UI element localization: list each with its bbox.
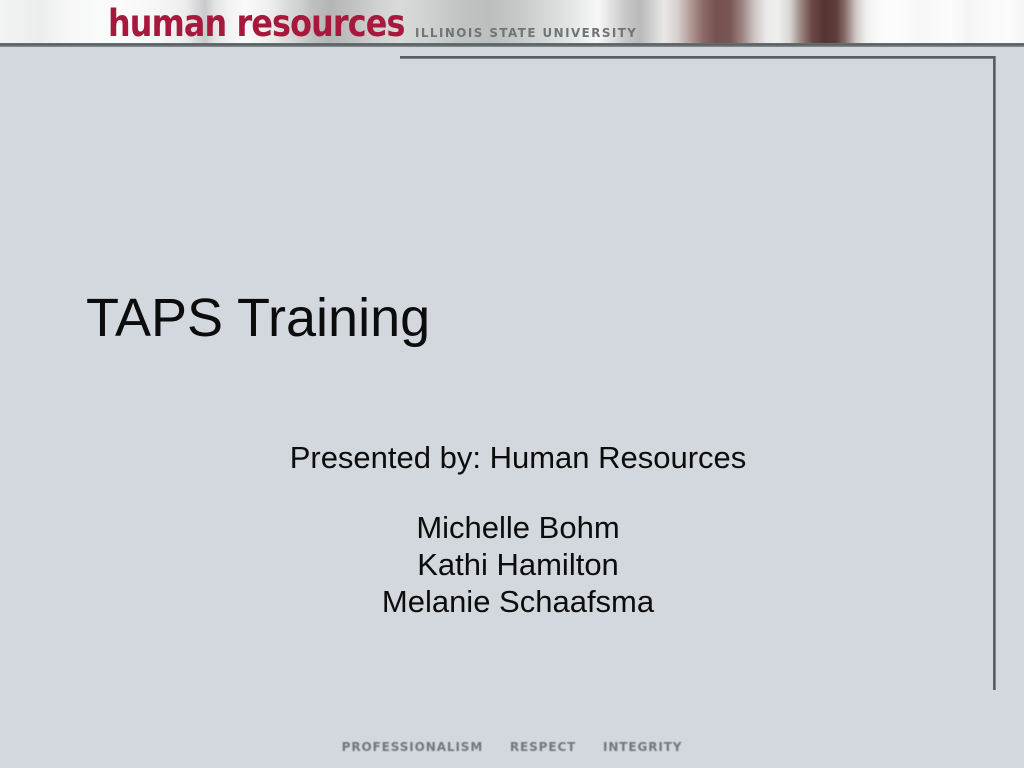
slide-subtitle-block: Presented by: Human Resources Michelle B… (0, 437, 1024, 620)
footer-tagline-word: PROFESSIONALISM (342, 739, 484, 755)
slide-title: TAPS Training (86, 287, 430, 349)
frame-top-line (400, 56, 996, 59)
presenter-list: Michelle Bohm Kathi Hamilton Melanie Sch… (0, 509, 1024, 620)
footer-tagline: PROFESSIONALISM RESPECT INTEGRITY (0, 739, 1024, 755)
presentation-slide: human resources ILLINOIS STATE UNIVERSIT… (0, 0, 1024, 768)
footer-tagline-word: RESPECT (510, 739, 576, 755)
presenter-name: Melanie Schaafsma (12, 583, 1024, 620)
presenter-name: Michelle Bohm (12, 509, 1024, 546)
logo-illinois-state-university-text: ILLINOIS STATE UNIVERSITY (415, 25, 637, 40)
isu-hr-logo: human resources ILLINOIS STATE UNIVERSIT… (108, 5, 693, 42)
logo-human-resources-text: human resources (108, 4, 405, 42)
presenter-name: Kathi Hamilton (12, 546, 1024, 583)
presented-by-line: Presented by: Human Resources (0, 437, 1024, 479)
footer-tagline-word: INTEGRITY (603, 739, 682, 755)
header-banner-image: human resources ILLINOIS STATE UNIVERSIT… (0, 0, 1024, 47)
